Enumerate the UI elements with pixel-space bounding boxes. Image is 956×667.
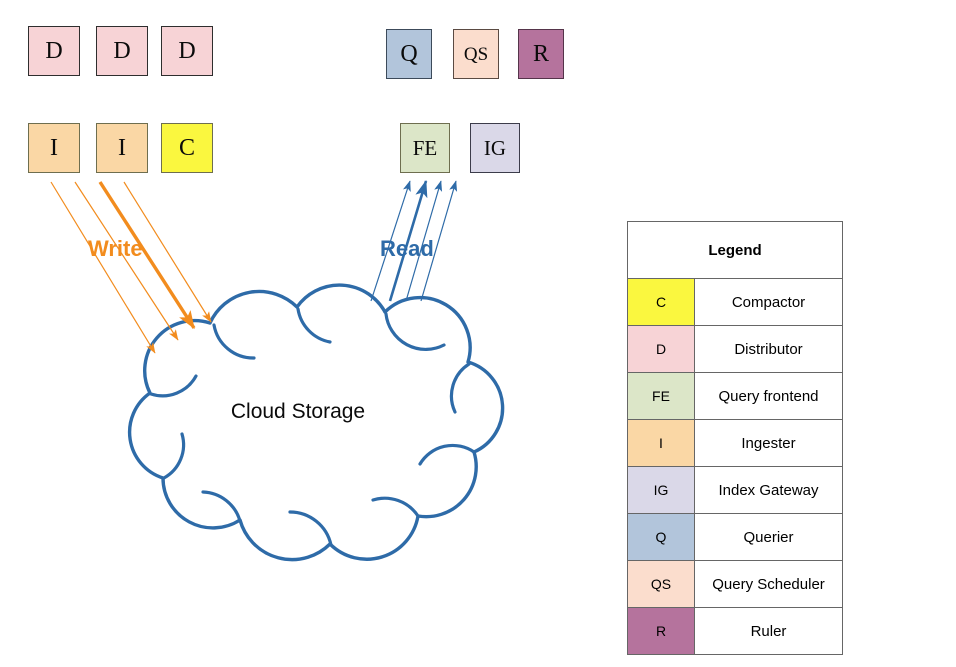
node-label: I [50, 136, 58, 160]
legend-key-query-scheduler: QS [628, 561, 695, 608]
node-query-scheduler[interactable]: QS [453, 29, 499, 79]
node-query-frontend[interactable]: FE [400, 123, 450, 173]
legend-row: CCompactor [628, 279, 843, 326]
write-flow-label: Write [88, 236, 143, 262]
legend-title: Legend [628, 222, 843, 279]
legend-desc-distributor: Distributor [695, 326, 843, 373]
node-label: C [179, 136, 195, 160]
legend-key-ingester: I [628, 420, 695, 467]
node-label: IG [484, 138, 506, 159]
legend-desc-query-frontend: Query frontend [695, 373, 843, 420]
legend-desc-querier: Querier [695, 514, 843, 561]
legend-key-query-frontend: FE [628, 373, 695, 420]
legend-row: IGIndex Gateway [628, 467, 843, 514]
legend-key-distributor: D [628, 326, 695, 373]
legend-desc-compactor: Compactor [695, 279, 843, 326]
legend-row: IIngester [628, 420, 843, 467]
node-compactor[interactable]: C [161, 123, 213, 173]
legend-row: RRuler [628, 608, 843, 655]
legend-desc-ruler: Ruler [695, 608, 843, 655]
legend-row: FEQuery frontend [628, 373, 843, 420]
legend-header-row: Legend [628, 222, 843, 279]
node-label: I [118, 136, 126, 160]
node-querier[interactable]: Q [386, 29, 432, 79]
legend-desc-query-scheduler: Query Scheduler [695, 561, 843, 608]
node-ruler[interactable]: R [518, 29, 564, 79]
legend-key-index-gateway: IG [628, 467, 695, 514]
legend-key-querier: Q [628, 514, 695, 561]
node-distributor-2[interactable]: D [96, 26, 148, 76]
node-ingester-1[interactable]: I [28, 123, 80, 173]
node-ingester-2[interactable]: I [96, 123, 148, 173]
cloud-storage-label: Cloud Storage [178, 400, 418, 424]
node-index-gateway[interactable]: IG [470, 123, 520, 173]
legend-desc-index-gateway: Index Gateway [695, 467, 843, 514]
node-label: Q [400, 42, 417, 66]
legend-row: QQuerier [628, 514, 843, 561]
legend-row: QSQuery Scheduler [628, 561, 843, 608]
node-label: QS [464, 45, 488, 64]
node-label: D [113, 39, 130, 63]
legend-desc-ingester: Ingester [695, 420, 843, 467]
node-label: D [178, 39, 195, 63]
node-label: R [533, 42, 549, 66]
node-distributor-3[interactable]: D [161, 26, 213, 76]
legend-key-compactor: C [628, 279, 695, 326]
legend-key-ruler: R [628, 608, 695, 655]
node-label: FE [413, 138, 438, 159]
read-flow-label: Read [380, 236, 434, 262]
legend-table: Legend CCompactorDDistributorFEQuery fro… [627, 221, 843, 655]
node-distributor-1[interactable]: D [28, 26, 80, 76]
node-label: D [45, 39, 62, 63]
legend-row: DDistributor [628, 326, 843, 373]
